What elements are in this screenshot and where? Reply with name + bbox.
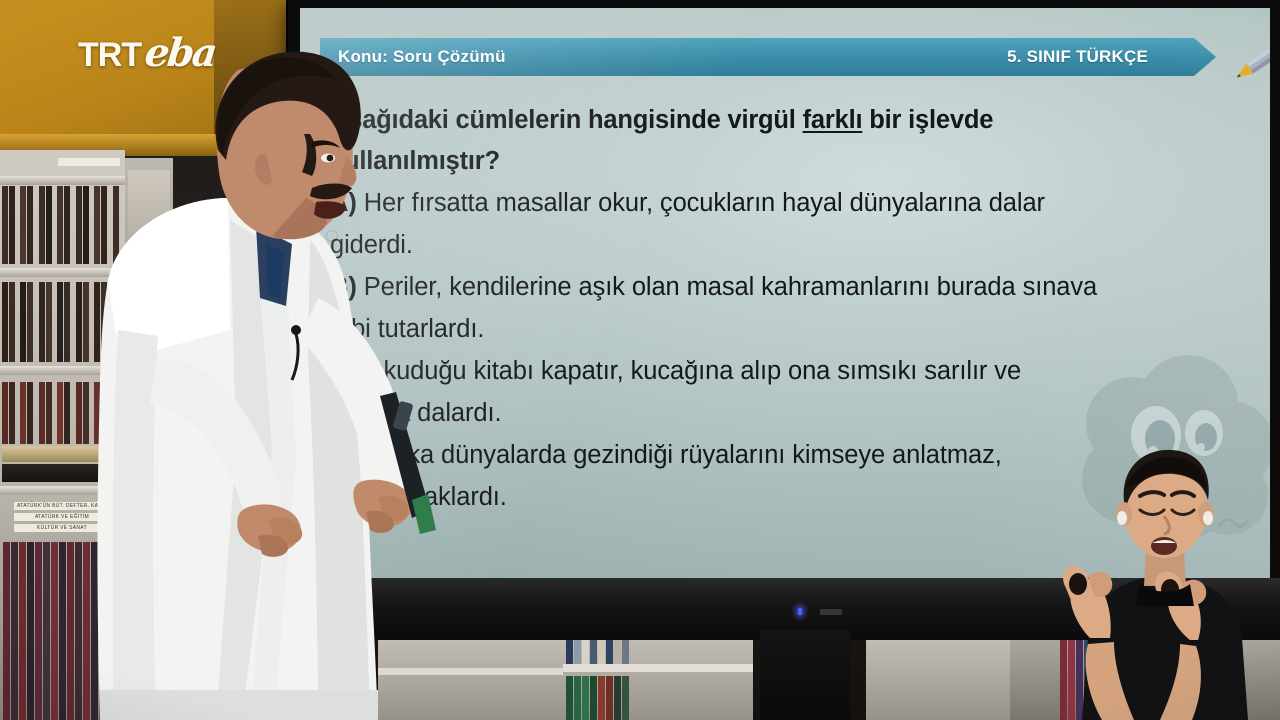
book-row	[566, 676, 746, 720]
option-b[interactable]: B) Periler, kendilerine aşık olan masal …	[330, 267, 1240, 308]
option-a-line2: giderdi.	[330, 225, 1240, 266]
display-stand	[760, 630, 850, 720]
presenter-teacher	[60, 30, 460, 720]
power-led-indicator	[798, 608, 802, 615]
video-frame: ATATÜRK'ÜN BÜT. DEFTER. KALIN ATATÜRK VE…	[0, 0, 1280, 720]
sign-language-interpreter	[1048, 438, 1280, 720]
question-text-suffix: bir işlevde	[862, 106, 993, 134]
low-bookshelf-right	[866, 630, 1026, 720]
logo-trt-text: TRT	[78, 36, 141, 75]
question-line-2: kullanılmıştır?	[330, 141, 1240, 182]
display-control-marks	[820, 609, 842, 615]
question-emphasis: farklı	[803, 106, 863, 134]
option-a[interactable]: A) Her fırsatta masallar okur, çocukları…	[330, 183, 1240, 224]
grade-subject-label: 5. SINIF TÜRKÇE	[1007, 47, 1196, 67]
trt-eba-logo: TRT eba	[78, 30, 215, 76]
option-c[interactable]: C) Okuduğu kitabı kapatır, kucağına alıp…	[330, 351, 1240, 392]
shelf-board	[563, 664, 753, 672]
option-b-line1: Periler, kendilerine aşık olan masal kah…	[357, 273, 1097, 301]
question-line-1: Aşağıdaki cümlelerin hangisinde virgül f…	[330, 100, 1240, 141]
logo-eba-text: eba	[143, 30, 218, 76]
pencil-icon	[1225, 30, 1270, 88]
option-c-line2: uykuya dalardı.	[330, 393, 1240, 434]
option-b-line2: tabi tutarlardı.	[330, 309, 1240, 350]
